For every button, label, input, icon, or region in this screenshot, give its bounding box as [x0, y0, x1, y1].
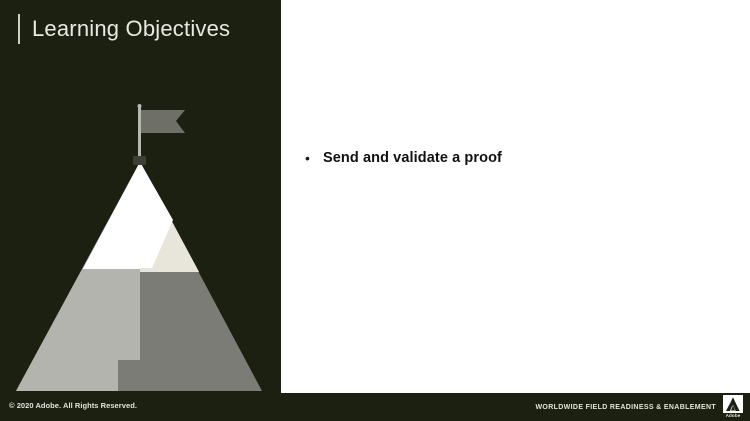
page-title-label: Learning Objectives [32, 18, 230, 40]
copyright-label: © 2020 Adobe. All Rights Reserved. [9, 401, 137, 410]
footer-bar: © 2020 Adobe. All Rights Reserved. WORLD… [0, 393, 750, 421]
flag-pole [138, 106, 141, 162]
flag-base-knob [133, 156, 146, 165]
bullet-point-icon: • [305, 148, 323, 168]
adobe-wordmark-label: Adobe [726, 413, 741, 418]
mountain-graphic [0, 60, 281, 392]
adobe-a-icon [723, 395, 743, 413]
mountain-snow-cap-left [83, 162, 140, 269]
title-rule-divider [18, 14, 20, 44]
content-area: • Send and validate a proof [281, 0, 750, 393]
slide-canvas: Learning Objectives [0, 0, 750, 421]
flag-banner [141, 110, 185, 133]
list-item: • Send and validate a proof [305, 148, 725, 168]
footer-branding: WORLDWIDE FIELD READINESS & ENABLEMENT A… [535, 395, 744, 419]
learning-objectives-list: • Send and validate a proof [305, 148, 725, 178]
list-item-label: Send and validate a proof [323, 148, 502, 168]
footer-tagline-label: WORLDWIDE FIELD READINESS & ENABLEMENT [535, 404, 716, 411]
flag-pole-top-cap [138, 104, 142, 108]
adobe-logo: Adobe [722, 395, 744, 419]
page-title: Learning Objectives [18, 12, 230, 46]
left-panel: Learning Objectives [0, 0, 281, 421]
mountain-illustration [0, 60, 281, 392]
